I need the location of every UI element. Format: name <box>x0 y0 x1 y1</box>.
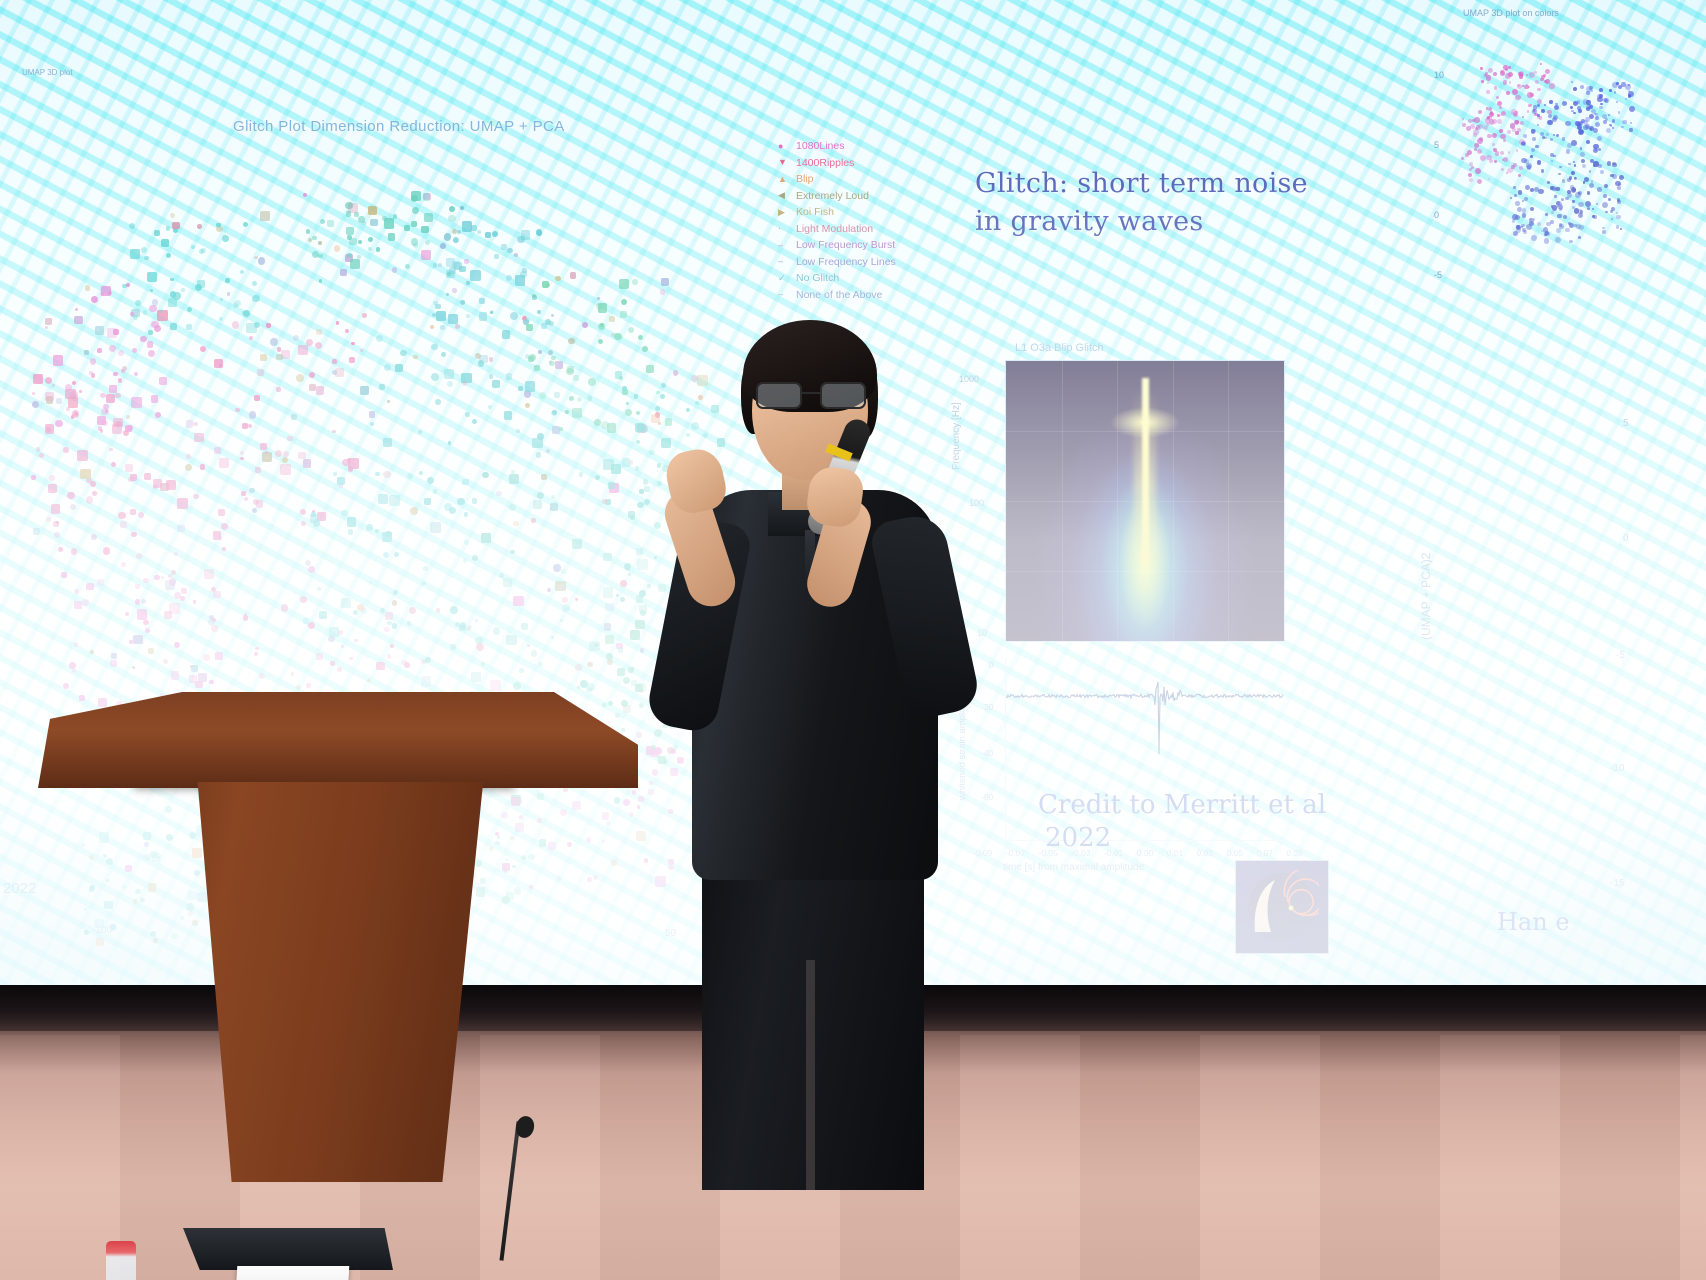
scatter-point <box>260 443 267 450</box>
logo-glyph <box>1245 870 1319 944</box>
scatter-point <box>516 429 520 433</box>
scatter-point <box>421 250 431 260</box>
scatter-point <box>125 464 133 472</box>
scatter-point <box>154 230 160 236</box>
scatter-point <box>84 350 89 355</box>
scatter-point <box>582 322 588 328</box>
scatter-point <box>436 608 441 613</box>
scatter-point <box>561 569 566 574</box>
scatter-point <box>449 507 456 514</box>
scatter-point <box>559 427 563 431</box>
scatter-point <box>392 267 397 272</box>
scatter-point <box>1565 228 1570 233</box>
scatter-point <box>248 424 252 428</box>
scatter-point <box>130 312 134 316</box>
scatter-point <box>341 598 351 608</box>
scatter-point <box>548 350 553 355</box>
scatter-point <box>45 326 48 329</box>
scatter-point <box>33 528 39 534</box>
scatter-point <box>147 272 157 282</box>
scatter-point <box>298 452 306 460</box>
scatter-point <box>549 361 555 367</box>
scatter-point <box>1584 177 1589 182</box>
spectrogram-image <box>1005 360 1285 642</box>
scatter-point <box>165 580 175 590</box>
scatter-point <box>221 523 228 530</box>
scatter-point <box>1516 149 1519 152</box>
scatter-point <box>513 521 518 526</box>
scatter-point <box>200 346 206 352</box>
scatter-point <box>1569 240 1573 244</box>
scatter-point <box>186 420 194 428</box>
scatter-point <box>1568 163 1571 166</box>
credit-year: 2022 <box>1045 823 1111 853</box>
scatter-point <box>174 552 178 556</box>
right-bottom-ytick-3: -10 <box>1610 763 1624 774</box>
scatter-point <box>506 373 512 379</box>
strain-xtick-5: 0.00 <box>1137 848 1154 858</box>
scatter-point <box>360 349 363 352</box>
scatter-point <box>621 299 627 305</box>
scatter-point <box>45 377 52 384</box>
scatter-point <box>315 342 322 349</box>
scatter-point <box>570 272 576 278</box>
scatter-point <box>407 473 413 479</box>
scatter-point <box>150 289 153 292</box>
scatter-point <box>1503 157 1508 162</box>
scatter-point <box>477 230 481 234</box>
scatter-point <box>1515 95 1521 101</box>
scatter-point <box>131 532 137 538</box>
scatter-point <box>1534 71 1537 74</box>
scatter-point <box>438 263 442 267</box>
scatter-point <box>161 239 170 248</box>
scatter-point <box>597 297 600 300</box>
scatter-point <box>424 498 431 505</box>
scatter-point <box>533 500 542 509</box>
scatter-point <box>433 301 438 306</box>
scatter-point <box>1486 90 1490 94</box>
scatter-point <box>572 539 582 549</box>
scatter-point <box>470 270 481 281</box>
scatter-point <box>463 558 467 562</box>
scatter-point <box>1612 119 1615 122</box>
scatter-point <box>140 336 146 342</box>
scatter-point <box>1532 137 1537 142</box>
scatter-point <box>568 338 575 345</box>
scatter-point <box>153 479 162 488</box>
scatter-point <box>97 348 102 353</box>
scatter-point <box>45 424 55 434</box>
scatter-point <box>1617 186 1621 190</box>
scatter-point <box>489 374 494 379</box>
scatter-point <box>1473 133 1477 137</box>
scatter-point <box>72 381 76 385</box>
scatter-point <box>1507 130 1512 135</box>
scatter-point <box>1518 174 1522 178</box>
scatter-point <box>609 316 615 322</box>
scatter-point <box>376 247 381 252</box>
scatter-point <box>1483 125 1489 131</box>
scatter-point <box>418 430 422 434</box>
scatter-point <box>1462 118 1464 120</box>
scatter-point <box>155 412 161 418</box>
scatter-point <box>308 566 315 573</box>
left-panel-year: 2022 <box>3 880 36 897</box>
scatter-point <box>1581 119 1586 124</box>
scatter-point <box>125 425 132 432</box>
scatter-point <box>257 369 265 377</box>
scatter-point <box>433 489 438 494</box>
scatter-point <box>462 381 467 386</box>
scatter-point <box>464 540 470 546</box>
scatter-point <box>135 599 141 605</box>
scatter-point <box>112 424 122 434</box>
scatter-point <box>222 547 226 551</box>
scatter-point <box>1579 225 1584 230</box>
scatter-point <box>1578 129 1584 135</box>
scatter-point <box>588 378 596 386</box>
scatter-point <box>661 278 669 286</box>
scatter-point <box>1530 155 1533 158</box>
scatter-point <box>61 572 67 578</box>
scatter-point <box>1574 164 1577 167</box>
scatter-point <box>1589 105 1593 109</box>
scatter-point <box>105 409 109 413</box>
scatter-point <box>260 211 270 221</box>
scatter-point <box>240 270 244 274</box>
scatter-point <box>378 494 388 504</box>
scatter-point <box>492 380 500 388</box>
scatter-point <box>32 392 35 395</box>
scatter-point <box>109 385 118 394</box>
scatter-point <box>357 255 360 258</box>
scatter-point <box>370 219 377 226</box>
legend-marker-icon: – <box>778 241 787 250</box>
legend-item-label: Low Frequency Lines <box>796 256 896 268</box>
scatter-point <box>525 381 535 391</box>
scatter-point <box>1543 74 1546 77</box>
scatter-point <box>233 303 238 308</box>
scatter-point <box>545 319 551 325</box>
presenter-person <box>640 320 970 1180</box>
scatter-point <box>382 532 393 543</box>
scatter-point <box>194 433 204 443</box>
scatter-point <box>547 588 551 592</box>
scatter-point <box>1577 100 1581 104</box>
scatter-point <box>464 512 469 517</box>
scatter-point <box>1597 136 1602 141</box>
scatter-point <box>48 484 57 493</box>
scatter-point <box>1558 173 1561 176</box>
scatter-point <box>32 401 39 408</box>
scatter-point <box>130 249 140 259</box>
scatter-point <box>1606 128 1611 133</box>
scatter-point <box>550 503 558 511</box>
scatter-point <box>1524 197 1528 201</box>
scatter-point <box>1487 134 1492 139</box>
scatter-point <box>135 300 141 306</box>
podium-top <box>38 692 638 788</box>
scatter-point <box>136 553 142 559</box>
scatter-point <box>113 372 118 377</box>
scatter-point <box>1537 104 1540 107</box>
scatter-point <box>249 488 254 493</box>
scatter-point <box>101 420 108 427</box>
scatter-point <box>1556 134 1560 138</box>
scatter-point <box>472 419 477 424</box>
scatter-point <box>1603 194 1607 198</box>
scatter-point <box>393 590 398 595</box>
scatter-point <box>537 492 544 499</box>
scatter-point <box>1566 149 1571 154</box>
strain-xtick-1: -0.07 <box>1006 848 1025 858</box>
scatter-point <box>220 298 223 301</box>
scatter-point <box>555 276 561 282</box>
scatter-point <box>249 336 253 340</box>
scatter-point <box>1503 80 1508 85</box>
scatter-point <box>1526 163 1532 169</box>
scatter-point <box>249 411 257 419</box>
scatter-point <box>118 350 124 356</box>
scatter-point <box>425 240 431 246</box>
scatter-point <box>97 579 104 586</box>
right-top-scatter <box>1420 40 1706 300</box>
scatter-point <box>66 407 70 411</box>
scatter-point <box>1490 111 1494 115</box>
scatter-point <box>283 451 289 457</box>
scatter-point <box>1513 231 1518 236</box>
scatter-point <box>1599 88 1603 92</box>
scatter-point <box>55 420 63 428</box>
scatter-point <box>252 508 257 513</box>
scatter-point <box>430 325 434 329</box>
scatter-point <box>54 532 60 538</box>
scatter-point <box>1465 153 1470 158</box>
scatter-point <box>479 298 485 304</box>
scatter-point <box>143 578 149 584</box>
scatter-point <box>252 295 260 303</box>
scatter-point <box>109 448 113 452</box>
scatter-point <box>551 495 555 499</box>
scatter-point <box>74 589 79 594</box>
legend-marker-icon: ✓ <box>778 274 787 283</box>
scatter-point <box>1544 137 1546 139</box>
scatter-point <box>187 307 193 313</box>
scatter-point <box>1508 66 1511 69</box>
scatter-point <box>466 314 471 319</box>
spectrogram-panel: L1 O3a Blip Glitch Frequency [Hz] whiten… <box>955 340 1300 940</box>
scatter-point <box>253 499 259 505</box>
scatter-point <box>186 324 192 330</box>
scatter-point <box>348 203 358 213</box>
scatter-point <box>121 562 126 567</box>
scatter-point <box>1591 90 1593 92</box>
scatter-point <box>383 438 392 447</box>
scatter-point <box>71 548 77 554</box>
scatter-point <box>1513 186 1516 189</box>
scatter-point <box>1582 164 1586 168</box>
scatter-point <box>1511 165 1515 169</box>
scatter-point <box>1571 81 1574 84</box>
scatter-point <box>551 410 557 416</box>
scatter-point <box>151 395 159 403</box>
scatter-point <box>1544 233 1547 236</box>
scatter-point <box>1469 178 1473 182</box>
scatter-point <box>1486 75 1491 80</box>
scatter-point <box>368 247 372 251</box>
scatter-point <box>457 498 465 506</box>
scatter-point <box>383 552 389 558</box>
scatter-point <box>449 206 455 212</box>
scatter-point <box>546 449 551 454</box>
scatter-point <box>579 472 584 477</box>
scatter-point <box>423 193 431 201</box>
scatter-point <box>603 587 614 598</box>
scatter-point <box>1515 201 1520 206</box>
scatter-point <box>232 321 239 328</box>
scatter-point <box>1531 129 1536 134</box>
scatter-point <box>383 471 391 479</box>
scatter-point <box>394 552 399 557</box>
scatter-point <box>276 354 282 360</box>
scatter-point <box>368 206 377 215</box>
scatter-point <box>471 225 477 231</box>
scatter-point <box>448 441 452 445</box>
scatter-point <box>1517 128 1521 132</box>
legend-marker-icon: – <box>778 257 787 266</box>
right-bottom-ytick-0: 5 <box>1623 418 1629 429</box>
scatter-point <box>1502 159 1504 161</box>
scatter-point <box>319 279 323 283</box>
scatter-point <box>130 509 136 515</box>
spectrogram-title: L1 O3a Blip Glitch <box>1015 342 1104 354</box>
legend-marker-icon: ◀ <box>778 191 787 200</box>
scatter-point <box>387 400 390 403</box>
scatter-point <box>446 293 450 297</box>
scatter-point <box>141 599 146 604</box>
podium-body <box>150 782 490 1182</box>
scatter-point <box>1608 114 1610 116</box>
scatter-point <box>334 245 340 251</box>
scatter-point <box>464 259 469 264</box>
scatter-point <box>166 480 176 490</box>
scatter-point <box>348 466 353 471</box>
scatter-point <box>111 462 117 468</box>
scatter-point <box>1487 82 1489 84</box>
scatter-point <box>332 359 336 363</box>
scatter-point <box>1605 211 1608 214</box>
scatter-point <box>1573 87 1577 91</box>
scatter-point <box>431 344 437 350</box>
scatter-point <box>252 281 257 286</box>
laptop-on-podium <box>183 1228 393 1270</box>
scatter-point <box>598 339 603 344</box>
scatter-point <box>1586 140 1590 144</box>
scatter-point <box>1535 80 1539 84</box>
legend-item-6: –Low Frequency Burst <box>778 237 943 254</box>
scatter-point <box>204 569 214 579</box>
scatter-point <box>435 399 441 405</box>
scatter-point <box>595 475 601 481</box>
institution-logo <box>1235 860 1329 954</box>
scatter-point <box>100 429 104 433</box>
scatter-point <box>1505 73 1511 79</box>
scatter-point <box>1607 161 1612 166</box>
scatter-point <box>1519 139 1525 145</box>
strain-xtick-10: 0.09 <box>1286 848 1303 858</box>
scatter-point <box>1497 119 1502 124</box>
scatter-point <box>1481 80 1484 83</box>
scatter-point <box>332 430 335 433</box>
scatter-point <box>554 392 560 398</box>
scatter-point <box>507 248 513 254</box>
scatter-point <box>1526 74 1528 76</box>
scatter-point <box>460 206 465 211</box>
scatter-point <box>258 257 266 265</box>
scatter-point <box>562 604 570 612</box>
scatter-point <box>1620 228 1623 231</box>
scatter-point <box>536 452 542 458</box>
scatter-point <box>1567 178 1571 182</box>
scatter-point <box>296 374 304 382</box>
strain-xtick-row: -0.09-0.07-0.05-0.03-0.010.000.010.030.0… <box>973 848 1303 858</box>
scatter-point <box>1603 98 1607 102</box>
scatter-point <box>660 289 666 295</box>
scatter-point <box>301 521 306 526</box>
scatter-point <box>1616 225 1620 229</box>
legend-item-0: ●1080Lines <box>778 138 943 155</box>
scatter-point <box>121 369 125 373</box>
scatter-point <box>388 233 395 240</box>
scatter-point <box>1581 159 1585 163</box>
scatter-point <box>1518 190 1523 195</box>
scatter-point <box>191 245 196 250</box>
scatter-point <box>52 384 55 387</box>
scatter-point <box>1589 114 1594 119</box>
scatter-point <box>515 275 526 286</box>
scatter-point <box>1611 218 1613 220</box>
scatter-point <box>1593 128 1598 133</box>
scatter-point <box>528 356 534 362</box>
scatter-point <box>1622 120 1627 125</box>
strain-xtick-6: 0.01 <box>1167 848 1184 858</box>
scatter-point <box>1486 155 1492 161</box>
scatter-point <box>260 354 267 361</box>
scatter-point <box>539 392 546 399</box>
scatter-point <box>509 504 516 511</box>
scatter-point <box>412 207 419 214</box>
scatter-point <box>620 597 625 602</box>
scatter-point <box>1461 157 1464 160</box>
scatter-point <box>1537 160 1541 164</box>
scatter-point <box>1546 222 1551 227</box>
scatter-point <box>1573 161 1575 163</box>
scatter-point <box>341 510 348 517</box>
scatter-point <box>170 278 173 281</box>
scatter-point <box>1554 105 1559 110</box>
scatter-point <box>177 525 185 533</box>
scatter-point <box>635 466 639 470</box>
scatter-point <box>1546 133 1549 136</box>
scatter-point <box>1493 72 1497 76</box>
scatter-point <box>1514 194 1518 198</box>
scatter-point <box>63 447 69 453</box>
scatter-point <box>1589 170 1591 172</box>
scatter-point <box>400 350 406 356</box>
scatter-point <box>310 514 319 523</box>
scatter-point <box>620 580 627 587</box>
